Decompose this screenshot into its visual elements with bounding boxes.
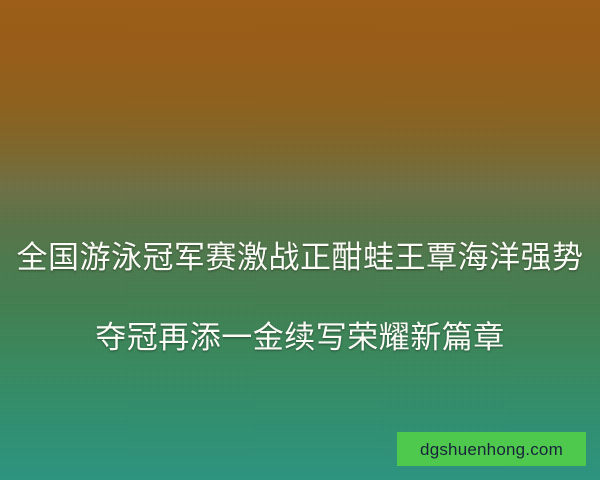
news-banner: 全国游泳冠军赛激战正酣蛙王覃海洋强势 夺冠再添一金续写荣耀新篇章 dgshuen… <box>0 0 600 480</box>
watermark-badge: dgshuenhong.com <box>397 432 586 466</box>
watermark-url-label: dgshuenhong.com <box>420 441 563 458</box>
headline-line-2: 夺冠再添一金续写荣耀新篇章 <box>10 318 590 358</box>
headline-line-1: 全国游泳冠军赛激战正酣蛙王覃海洋强势 <box>10 238 590 278</box>
headline-text: 全国游泳冠军赛激战正酣蛙王覃海洋强势 夺冠再添一金续写荣耀新篇章 <box>0 198 600 398</box>
